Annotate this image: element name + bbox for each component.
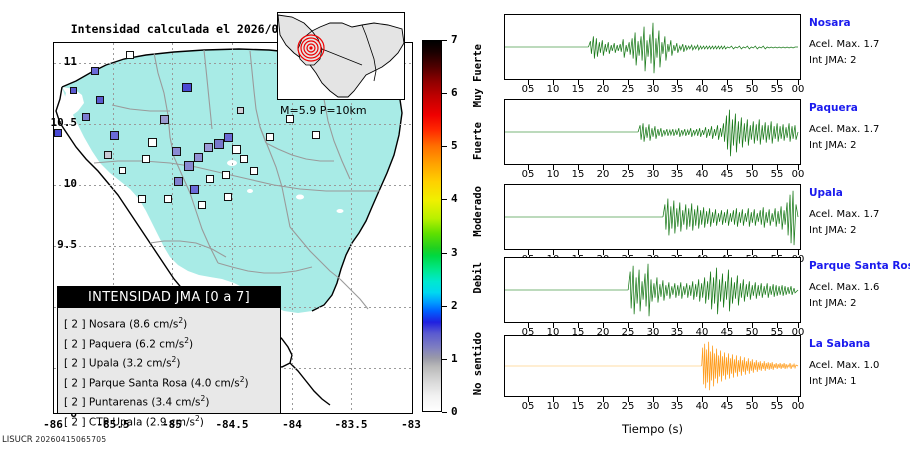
legend-exp: 2 xyxy=(195,414,200,423)
tick-label: 40 xyxy=(696,169,709,180)
colorbar-gradient xyxy=(422,40,442,412)
tick-label: 35 xyxy=(671,169,684,180)
tick-label: 15 xyxy=(572,84,585,95)
station-marker[interactable] xyxy=(190,185,199,194)
station-marker[interactable] xyxy=(96,96,104,104)
tick-label: 00 xyxy=(792,84,805,95)
legend-bracket: [ 2 ] xyxy=(64,319,86,331)
tick-label: 35 xyxy=(671,401,684,412)
tick-label: 50 xyxy=(746,401,759,412)
station-name: Upala xyxy=(809,187,843,199)
tick-label: 30 xyxy=(647,401,660,412)
legend-row: [ 2 ] Paquera (6.2 cm/s2) xyxy=(64,333,280,353)
trace-ticklabels: 05 10 15 20 25 30 35 40 45 50 55 00 xyxy=(504,169,801,182)
colorbar-tick xyxy=(442,359,447,360)
tick-label: 10 xyxy=(547,84,560,95)
tick-label: 50 xyxy=(746,84,759,95)
station-name: Nosara xyxy=(809,17,851,29)
station-accel: Acel. Max. 1.7 xyxy=(809,124,879,135)
legend-exp: 2 xyxy=(184,336,189,345)
tick-label: 55 xyxy=(771,84,784,95)
colorbar-category-label: No sentido xyxy=(472,332,484,395)
trace-ticklabels: 05 10 15 20 25 30 35 40 45 50 55 00 xyxy=(504,401,801,414)
station-marker[interactable] xyxy=(70,87,77,94)
colorbar-number: 1 xyxy=(451,352,458,365)
trace-frame xyxy=(504,257,801,323)
ytick-label: 9.5 xyxy=(17,238,77,251)
colorbar-tick xyxy=(442,146,447,147)
colorbar-tick xyxy=(442,93,447,94)
station-accel: Acel. Max. 1.6 xyxy=(809,282,879,293)
tick-label: 05 xyxy=(522,169,535,180)
tick-label: 40 xyxy=(696,401,709,412)
station-marker[interactable] xyxy=(164,195,172,203)
tick-label: 20 xyxy=(597,169,610,180)
station-marker[interactable] xyxy=(312,131,320,139)
station-marker[interactable] xyxy=(110,131,119,140)
legend-value: 2.9 xyxy=(150,416,167,428)
legend-bracket: [ 2 ] xyxy=(64,377,86,389)
tick-label: 25 xyxy=(622,84,635,95)
station-marker[interactable] xyxy=(224,193,232,201)
legend-row: [ 2 ] Nosara (8.6 cm/s2) xyxy=(64,313,280,333)
station-marker[interactable] xyxy=(54,129,62,137)
tick-label: 20 xyxy=(597,84,610,95)
waveform-paquera xyxy=(505,100,800,164)
legend-station: CTP Upala xyxy=(89,416,143,428)
tick-label: 30 xyxy=(647,169,660,180)
legend-value: 3.2 xyxy=(126,358,143,370)
tick-label: 50 xyxy=(746,169,759,180)
colorbar-category-label: Debil xyxy=(472,262,484,294)
legend-unit: cm/s xyxy=(176,397,201,409)
legend-exp: 2 xyxy=(201,394,206,403)
ytick-label: 10 xyxy=(17,177,77,190)
waveform-parque-santa-rosa xyxy=(505,258,800,322)
tick-label: 15 xyxy=(572,169,585,180)
intensity-legend-box: INTENSIDAD JMA [0 a 7] [ 2 ] Nosara (8.6… xyxy=(57,286,281,414)
footer-credit: LISUCR 20260415065705 xyxy=(2,435,106,445)
ytick-label: 10.5 xyxy=(17,116,77,129)
colorbar-number: 7 xyxy=(451,33,458,46)
legend-station: Paquera xyxy=(89,338,132,350)
trace-frame xyxy=(504,14,801,80)
colorbar-number: 3 xyxy=(451,246,458,259)
legend-row: [ 2 ] Upala (3.2 cm/s2) xyxy=(64,352,280,372)
legend-bracket: [ 2 ] xyxy=(64,397,86,409)
legend-value: 4.0 xyxy=(195,377,212,389)
colorbar-number: 6 xyxy=(451,86,458,99)
legend-station: Puntarenas xyxy=(89,397,148,409)
legend-station: Upala xyxy=(89,358,119,370)
seismic-intensity-report: Intensidad calculada el 2026/04/15_12:57… xyxy=(0,0,910,460)
colorbar-number: 5 xyxy=(451,139,458,152)
legend-row: [ 2 ] CTP Upala (2.9 cm/s2) xyxy=(64,411,280,431)
station-marker[interactable] xyxy=(266,133,274,141)
tick-label: 45 xyxy=(721,169,734,180)
legend-unit: cm/s xyxy=(215,377,240,389)
station-marker[interactable] xyxy=(91,67,99,75)
tick-label: 00 xyxy=(792,169,805,180)
legend-value: 8.6 xyxy=(133,319,150,331)
xtick-label: -83.5 xyxy=(321,418,381,431)
colorbar-number: 2 xyxy=(451,299,458,312)
legend-row: [ 2 ] Parque Santa Rosa (4.0 cm/s2) xyxy=(64,372,280,392)
colorbar-tick xyxy=(442,199,447,200)
colorbar-tick xyxy=(442,412,447,413)
tick-label: 15 xyxy=(572,401,585,412)
legend-station: Parque Santa Rosa xyxy=(89,377,187,389)
legend-row: [ 2 ] Puntarenas (3.4 cm/s2) xyxy=(64,391,280,411)
tick-label: 45 xyxy=(721,401,734,412)
legend-exp: 2 xyxy=(172,355,177,364)
station-marker[interactable] xyxy=(138,195,146,203)
intensity-colorbar: 0 1 2 3 4 5 6 7 No sentido Debil Moderad… xyxy=(422,40,492,420)
station-jma: Int JMA: 2 xyxy=(809,225,857,236)
legend-unit: cm/s xyxy=(153,319,178,331)
legend-unit: cm/s xyxy=(159,338,184,350)
station-marker[interactable] xyxy=(250,167,258,175)
station-marker[interactable] xyxy=(194,153,203,162)
map-panel: Intensidad calculada el 2026/04/15_12:57… xyxy=(0,0,495,460)
station-marker[interactable] xyxy=(237,107,244,114)
trace-frame xyxy=(504,99,801,165)
station-accel: Acel. Max. 1.0 xyxy=(809,360,879,371)
legend-bracket: [ 2 ] xyxy=(64,338,86,350)
legend-value: 6.2 xyxy=(139,338,156,350)
legend-header: INTENSIDAD JMA [0 a 7] xyxy=(58,287,280,308)
station-marker[interactable] xyxy=(126,51,134,59)
station-marker[interactable] xyxy=(182,83,192,92)
station-accel: Acel. Max. 1.7 xyxy=(809,39,879,50)
station-accel: Acel. Max. 1.7 xyxy=(809,209,879,220)
station-marker[interactable] xyxy=(206,175,214,183)
tick-label: 20 xyxy=(597,401,610,412)
gridline-lat-10 xyxy=(54,185,412,186)
legend-exp: 2 xyxy=(240,375,245,384)
tick-label: 25 xyxy=(622,169,635,180)
station-marker[interactable] xyxy=(174,177,183,186)
station-marker[interactable] xyxy=(204,143,213,152)
x-axis-title: Tiempo (s) xyxy=(504,422,801,436)
tick-label: 10 xyxy=(547,401,560,412)
epicenter-dot xyxy=(309,46,312,49)
station-marker[interactable] xyxy=(119,167,126,174)
footer-timestamp: 20260415065705 xyxy=(35,435,106,444)
station-marker[interactable] xyxy=(148,138,157,147)
legend-station-list: [ 2 ] Nosara (8.6 cm/s2) [ 2 ] Paquera (… xyxy=(58,308,280,430)
station-jma: Int JMA: 2 xyxy=(809,140,857,151)
tick-label: 05 xyxy=(522,401,535,412)
station-marker[interactable] xyxy=(224,133,233,142)
station-name: Parque Santa Rosa xyxy=(809,260,910,272)
station-marker[interactable] xyxy=(104,151,112,159)
colorbar-category-label: Fuerte xyxy=(472,122,484,160)
tick-label: 10 xyxy=(547,169,560,180)
colorbar-category-label: Moderado xyxy=(472,186,484,237)
inset-magnitude-caption: M=5.9 P=10km xyxy=(277,104,407,117)
station-jma: Int JMA: 2 xyxy=(809,298,857,309)
waveform-la-sabana xyxy=(505,336,800,396)
gridline-lat-10p5 xyxy=(54,124,412,125)
legend-exp: 2 xyxy=(178,316,183,325)
trace-frame xyxy=(504,184,801,250)
legend-unit: cm/s xyxy=(147,358,172,370)
legend-bracket: [ 2 ] xyxy=(64,416,86,428)
station-name: Paquera xyxy=(809,102,858,114)
colorbar-number: 4 xyxy=(451,192,458,205)
tick-label: 40 xyxy=(696,84,709,95)
waveform-upala xyxy=(505,185,800,249)
station-marker[interactable] xyxy=(222,171,230,179)
station-marker[interactable] xyxy=(240,155,248,163)
tick-label: 45 xyxy=(721,84,734,95)
station-marker[interactable] xyxy=(172,147,181,156)
colorbar-tick xyxy=(442,306,447,307)
colorbar-tick xyxy=(442,253,447,254)
tick-label: 30 xyxy=(647,84,660,95)
station-marker[interactable] xyxy=(232,145,241,154)
waveform-nosara xyxy=(505,15,800,79)
legend-value: 3.4 xyxy=(155,397,172,409)
legend-unit: cm/s xyxy=(170,416,195,428)
station-marker[interactable] xyxy=(142,155,150,163)
station-jma: Int JMA: 2 xyxy=(809,55,857,66)
colorbar-tick xyxy=(442,40,447,41)
inset-map-svg xyxy=(278,13,404,99)
tick-label: 05 xyxy=(522,84,535,95)
legend-bracket: [ 2 ] xyxy=(64,358,86,370)
locator-inset-map xyxy=(277,12,405,100)
station-marker[interactable] xyxy=(184,161,194,171)
station-marker[interactable] xyxy=(214,139,224,149)
trace-ticklabels: 05 10 15 20 25 30 35 40 45 50 55 00 xyxy=(504,84,801,97)
legend-station: Nosara xyxy=(89,319,126,331)
ytick-label: 11 xyxy=(17,55,77,68)
gridline-lat-9p5 xyxy=(54,246,412,247)
seismogram-panel: 05 10 15 20 25 30 35 40 45 50 55 00 Nosa… xyxy=(495,0,910,460)
station-marker[interactable] xyxy=(198,201,206,209)
tick-label: 25 xyxy=(622,401,635,412)
station-name: La Sabana xyxy=(809,338,870,350)
tick-label: 55 xyxy=(771,169,784,180)
station-marker[interactable] xyxy=(160,115,169,124)
station-marker[interactable] xyxy=(82,113,90,121)
footer-label: LISUCR xyxy=(2,435,33,445)
colorbar-number: 0 xyxy=(451,405,458,418)
colorbar-category-label: Muy Fuerte xyxy=(472,44,484,107)
station-jma: Int JMA: 1 xyxy=(809,376,857,387)
trace-frame xyxy=(504,335,801,397)
tick-label: 35 xyxy=(671,84,684,95)
tick-label: 00 xyxy=(792,401,805,412)
tick-label: 55 xyxy=(771,401,784,412)
